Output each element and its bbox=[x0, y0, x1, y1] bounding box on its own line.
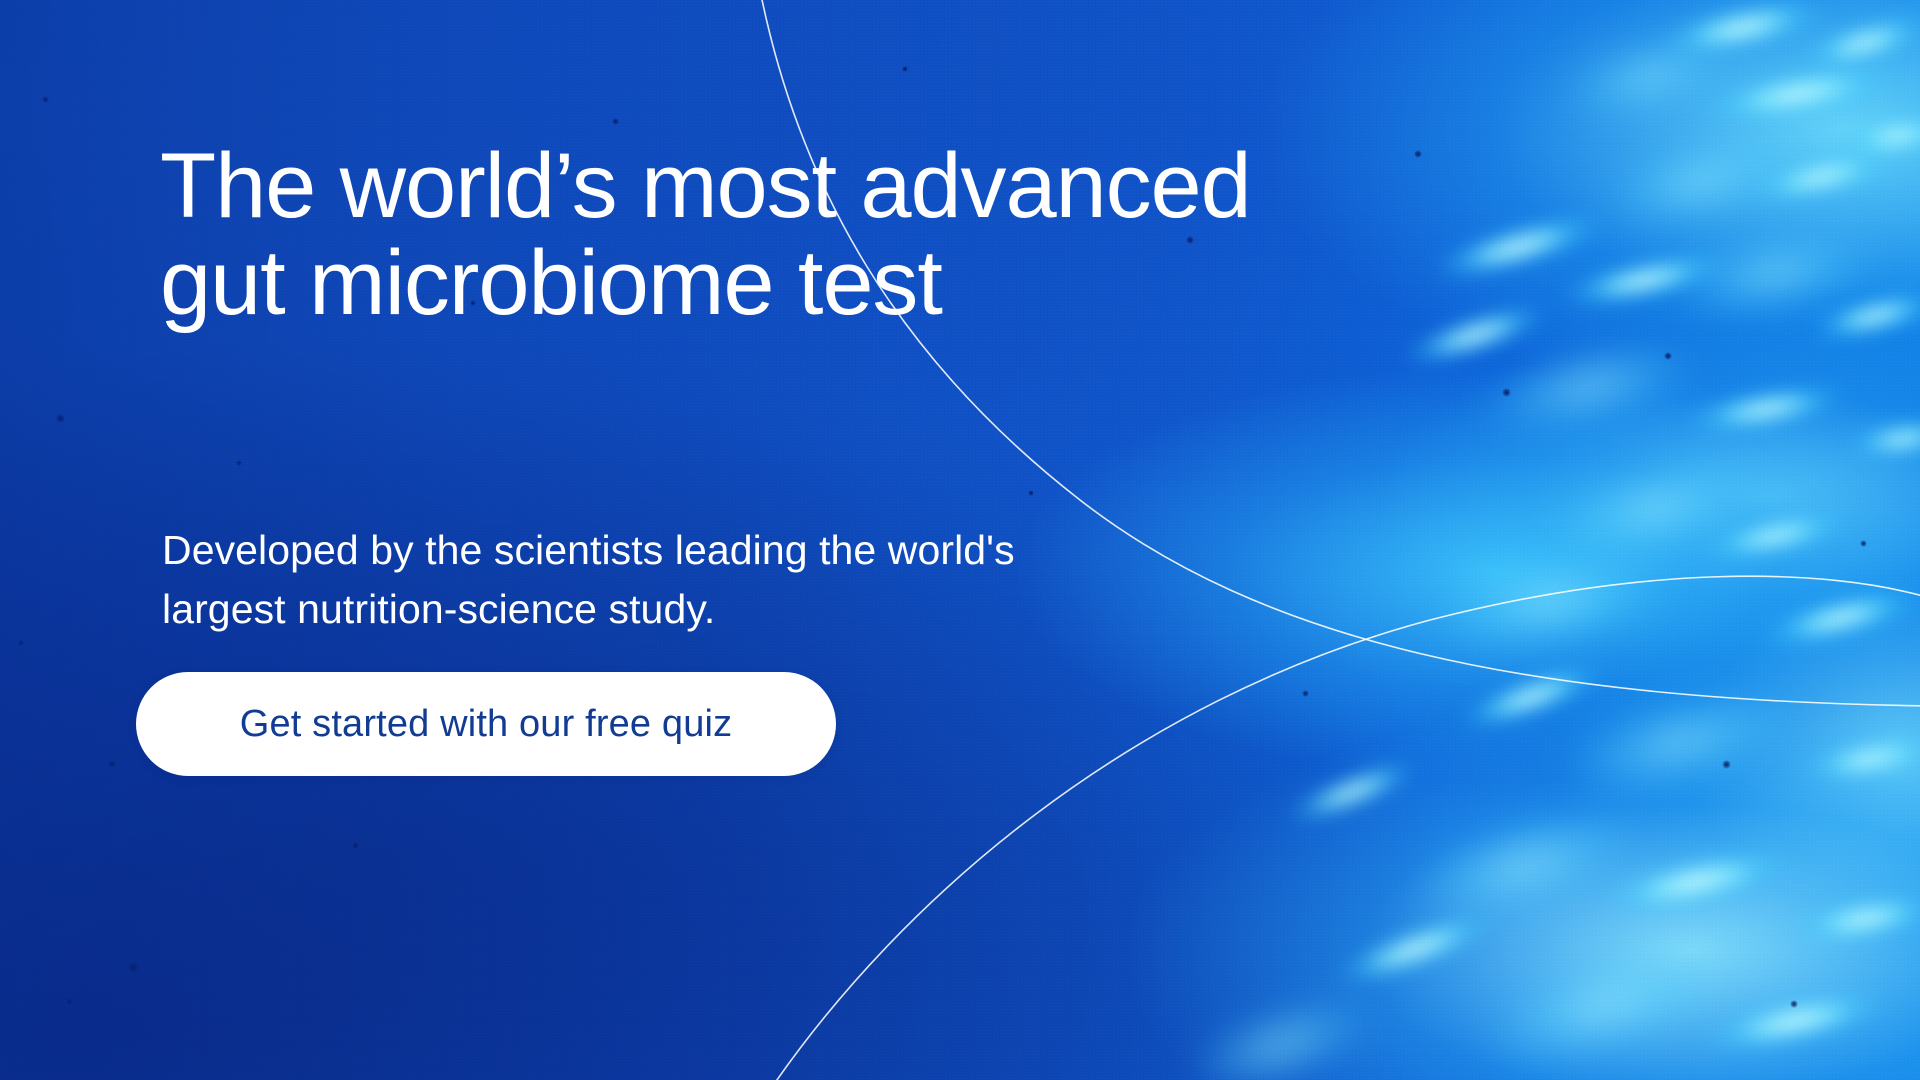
hero-content: The world’s most advanced gut microbiome… bbox=[160, 0, 1340, 1080]
hero-subheadline: Developed by the scientists leading the … bbox=[162, 521, 1142, 639]
page-title: The world’s most advanced gut microbiome… bbox=[160, 138, 1320, 331]
hero-banner: The world’s most advanced gut microbiome… bbox=[0, 0, 1920, 1080]
get-started-quiz-button[interactable]: Get started with our free quiz bbox=[136, 672, 836, 776]
